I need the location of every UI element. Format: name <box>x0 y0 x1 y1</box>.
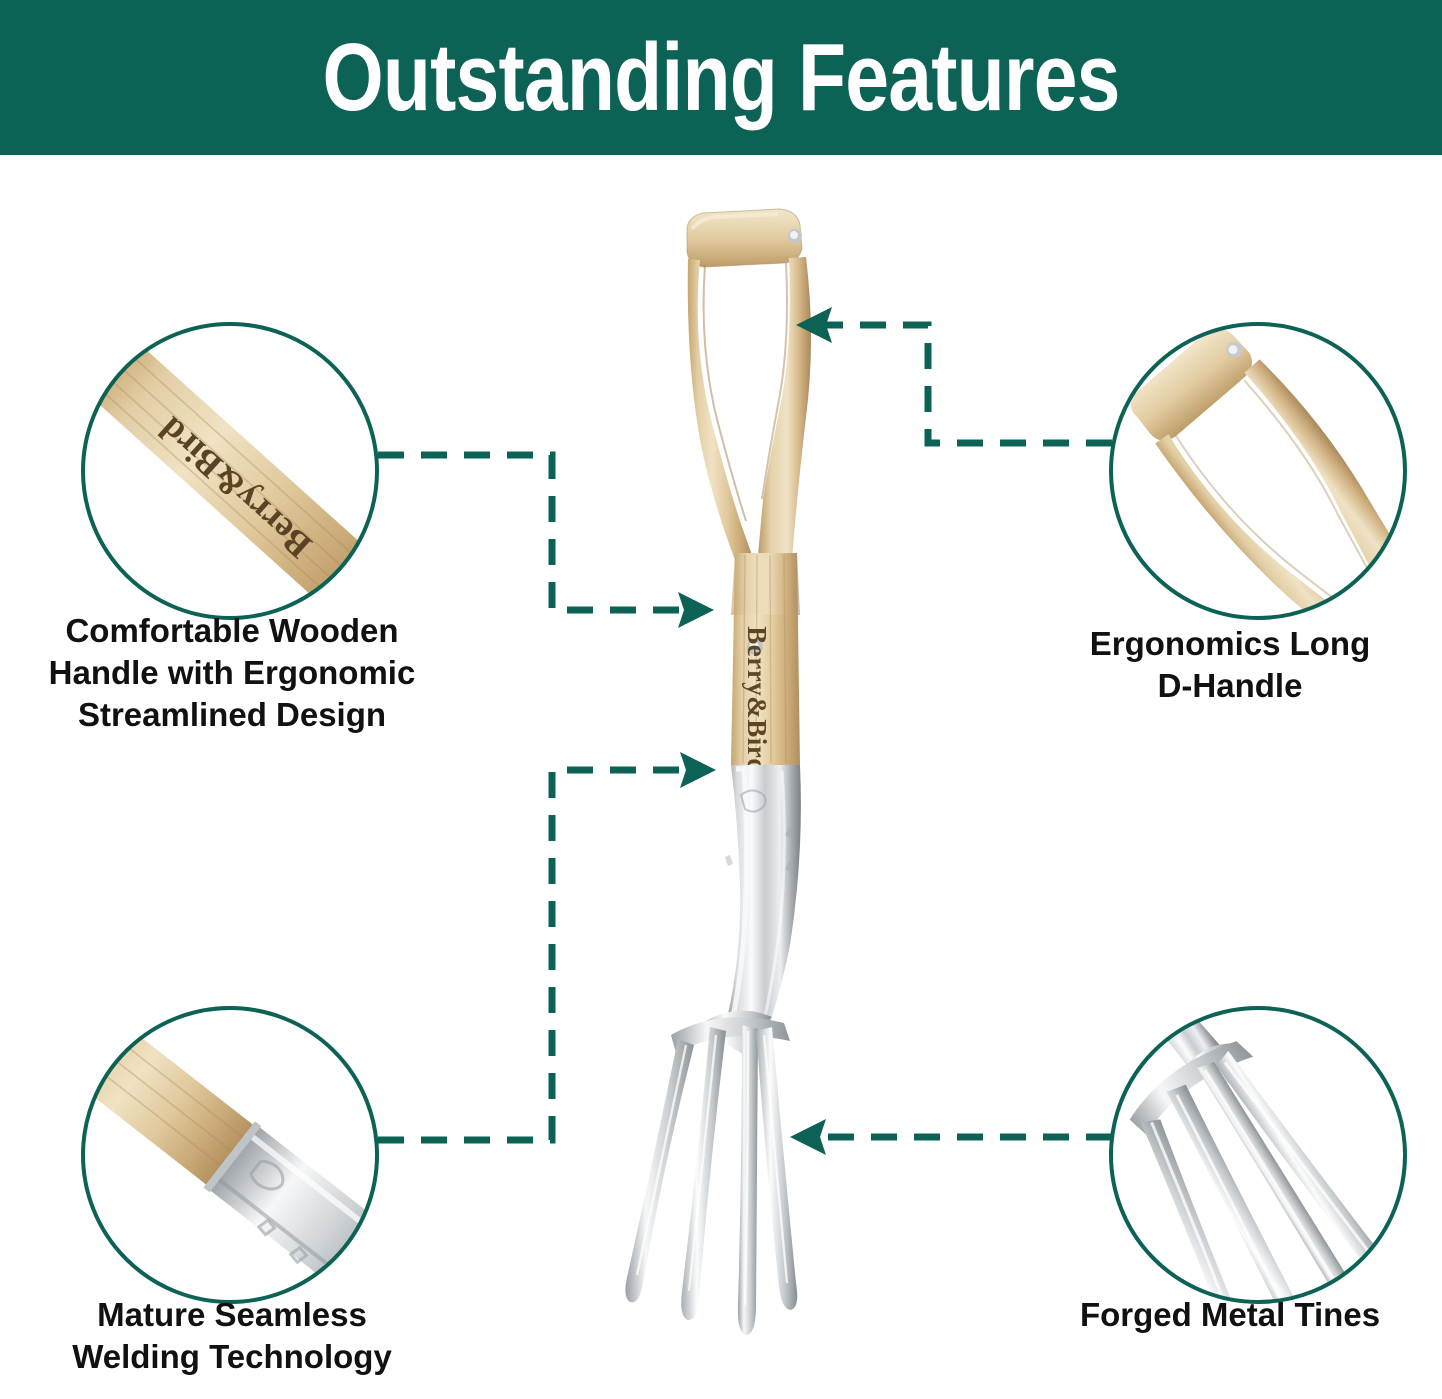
arrowhead-tines <box>790 1119 826 1155</box>
connector-welding <box>378 770 694 1140</box>
shaft-brand-engraving: Berry&Bird <box>742 626 772 773</box>
d-handle-right-leg <box>758 257 811 559</box>
fork-tines <box>625 1025 797 1335</box>
caption-welding: Mature Seamless Welding Technology <box>6 1294 458 1378</box>
callout-circle-welding <box>46 999 420 1317</box>
connector-d-handle <box>816 325 1112 443</box>
caption-tines: Forged Metal Tines <box>1024 1294 1436 1336</box>
d-handle-left-leg <box>688 259 752 560</box>
arrowhead-wooden-handle <box>678 592 714 628</box>
infographic-graphics: Berry&Bird <box>0 155 1442 1399</box>
tine-2 <box>681 1027 726 1320</box>
caption-wooden-handle: Comfortable Wooden Handle with Ergonomic… <box>6 610 458 736</box>
arrowhead-welding <box>680 752 716 788</box>
header-banner: Outstanding Features <box>0 0 1442 155</box>
connector-wooden-handle <box>378 455 692 610</box>
callout-circle-wooden-handle: Berry&Bird <box>78 324 394 626</box>
infographic-stage: Berry&Bird <box>0 155 1442 1399</box>
d-handle-grip <box>687 209 802 267</box>
handle-rivet-top <box>788 229 802 243</box>
caption-d-handle: Ergonomics Long D-Handle <box>1024 623 1436 707</box>
page-title: Outstanding Features <box>322 30 1119 126</box>
